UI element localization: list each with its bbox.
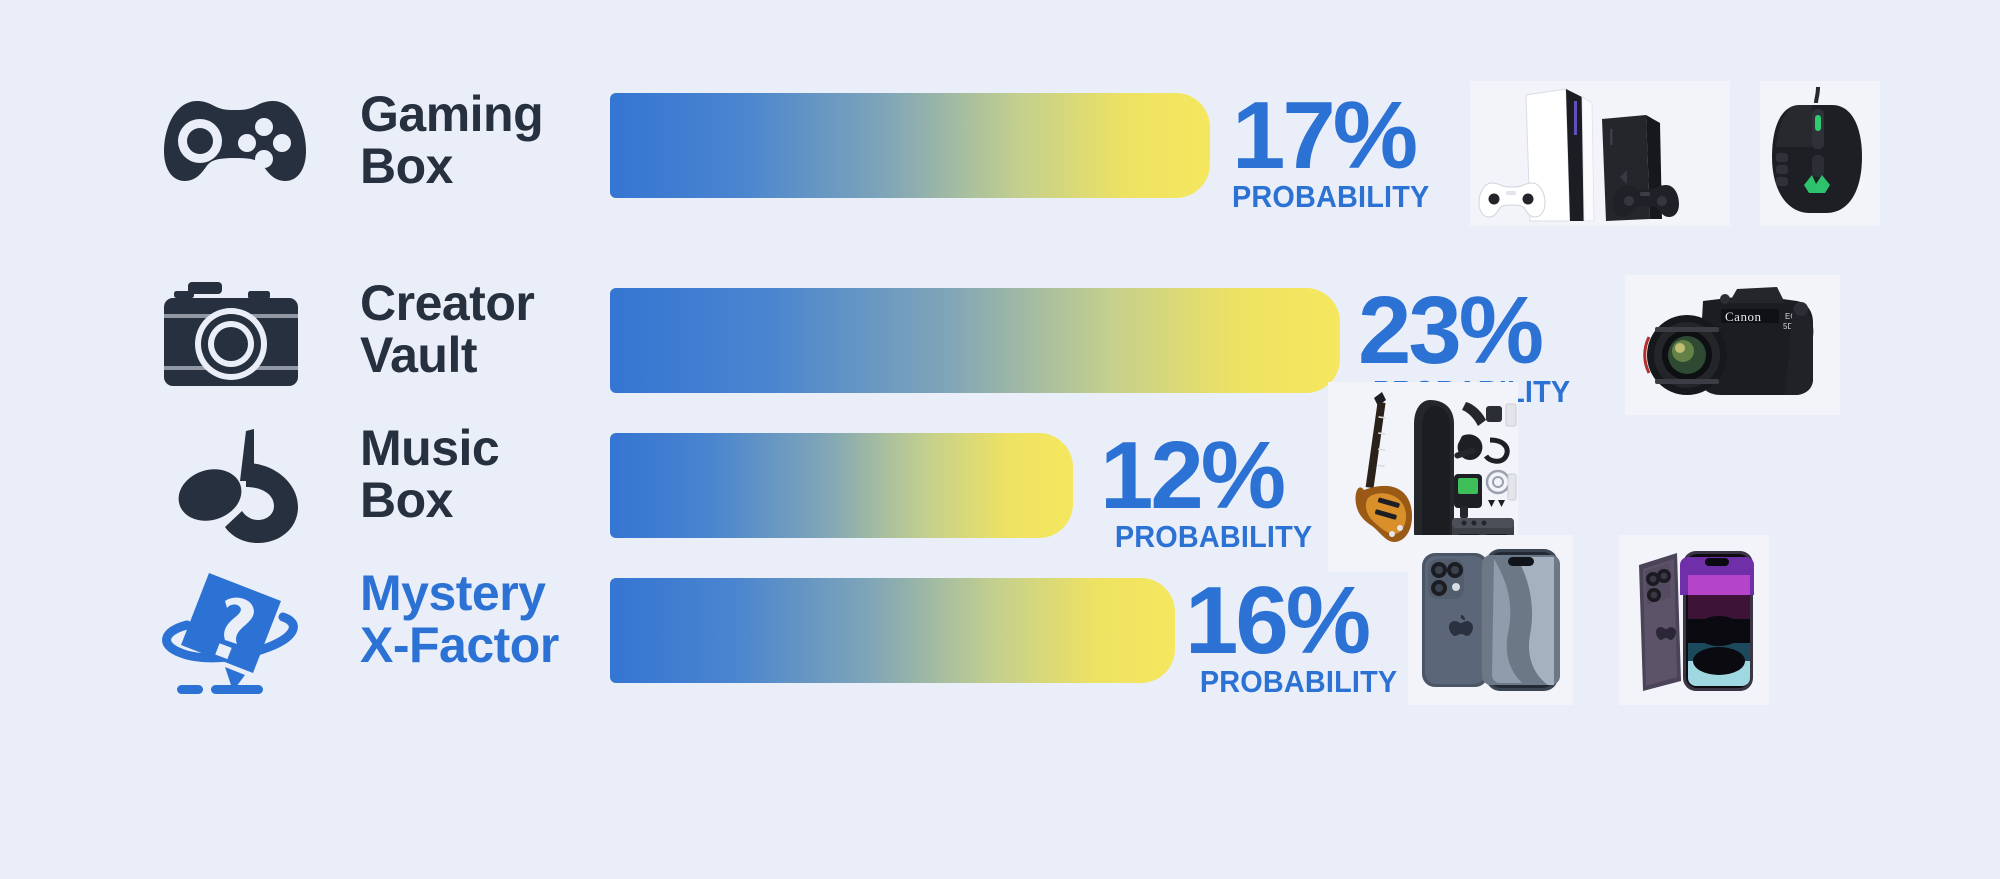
probability-infographic: Gaming Box 17% PROBABILITY — [0, 0, 2000, 879]
bar-fill — [610, 288, 1340, 393]
bar-fill — [610, 578, 1175, 683]
bar-mystery-x-factor — [610, 578, 1175, 683]
percent-value: 23% — [1358, 291, 1541, 372]
chart-row-gaming-box: Gaming Box 17% PROBABILITY — [0, 60, 2000, 230]
bar-creator-vault — [610, 288, 1340, 393]
bar-fill — [610, 93, 1210, 198]
product-images-mystery-x-factor — [1408, 535, 1769, 705]
music-note-icon — [155, 410, 325, 560]
percent-value: 17% — [1232, 96, 1415, 177]
product-images-gaming-box — [1470, 78, 1880, 228]
chart-row-label-creator-vault: Creator Vault — [360, 277, 534, 381]
percent-caption: PROBABILITY — [1200, 666, 1397, 697]
iphone-pro-deep-purple-image — [1619, 535, 1769, 705]
percent-block-gaming-box: 17% PROBABILITY — [1232, 96, 1444, 212]
bar-music-box — [610, 433, 1073, 538]
bar-gaming-box — [610, 93, 1210, 198]
playstation-consoles-image — [1470, 81, 1730, 226]
camera-icon — [150, 260, 320, 410]
chart-row-label-music-box: Music Box — [360, 422, 499, 526]
dslr-camera-image: Canon EOS 5D — [1625, 275, 1840, 415]
bar-fill — [610, 433, 1073, 538]
iphone-pro-blue-titanium-image — [1408, 535, 1573, 705]
mystery-box-question-icon — [148, 557, 318, 707]
product-images-creator-vault: Canon EOS 5D — [1625, 275, 1840, 415]
gaming-mouse-image — [1760, 81, 1880, 226]
chart-row-mystery-x-factor: Mystery X-Factor 16% PROBABILITY — [0, 545, 2000, 720]
percent-value: 16% — [1185, 581, 1368, 662]
chart-row-label-mystery-x-factor: Mystery X-Factor — [360, 567, 559, 671]
chart-row-label-gaming-box: Gaming Box — [360, 88, 543, 192]
percent-block-music-box: 12% PROBABILITY — [1100, 436, 1312, 552]
percent-caption: PROBABILITY — [1232, 181, 1429, 212]
svg-text:Canon: Canon — [1725, 309, 1761, 324]
gamepad-icon — [150, 70, 320, 220]
percent-value: 12% — [1100, 436, 1283, 517]
percent-block-mystery-x-factor: 16% PROBABILITY — [1185, 581, 1397, 697]
